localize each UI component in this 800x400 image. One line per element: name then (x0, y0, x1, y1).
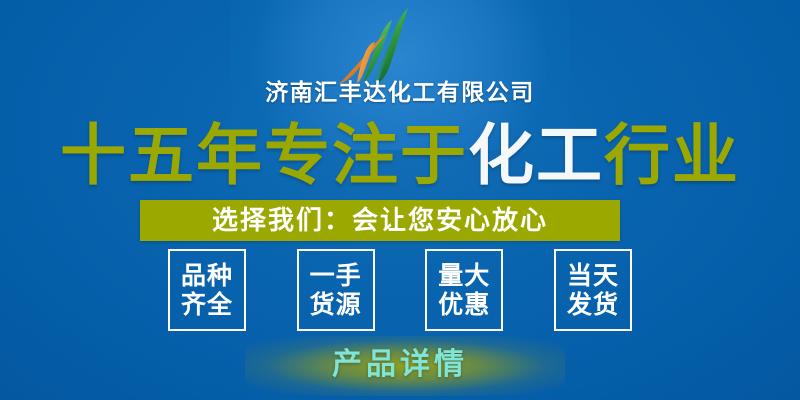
feature-box-2: 一手 货源 (297, 249, 375, 331)
promotional-banner: 济南汇丰达化工有限公司 十五年专注于化工行业 选择我们：会让您安心放心 品种 齐… (0, 0, 800, 400)
feature-box-4-line-1: 当天 (567, 261, 619, 291)
headline: 十五年专注于化工行业 (0, 123, 800, 189)
headline-part-1: 十五年专注于 (60, 117, 468, 194)
subtitle-bar: 选择我们：会让您安心放心 (140, 200, 620, 241)
feature-box-4: 当天 发货 (554, 249, 632, 331)
headline-part-3: 行业 (604, 117, 740, 194)
company-name: 济南汇丰达化工有限公司 (0, 82, 800, 105)
subtitle-text: 选择我们：会让您安心放心 (212, 208, 548, 234)
feature-box-1: 品种 齐全 (168, 249, 246, 331)
feature-box-3-line-1: 量大 (438, 261, 490, 291)
leaf-grass-logo-icon (330, 6, 450, 88)
feature-box-2-line-2: 货源 (310, 290, 362, 320)
feature-box-row: 品种 齐全 一手 货源 量大 优惠 当天 发货 (168, 249, 632, 331)
footer-label: 产品详情 (0, 350, 800, 380)
headline-part-2: 化工 (468, 117, 604, 194)
feature-box-1-line-2: 齐全 (181, 290, 233, 320)
feature-box-3: 量大 优惠 (425, 249, 503, 331)
feature-box-2-line-1: 一手 (310, 261, 362, 291)
feature-box-3-line-2: 优惠 (438, 290, 490, 320)
feature-box-1-line-1: 品种 (181, 261, 233, 291)
feature-box-4-line-2: 发货 (567, 290, 619, 320)
